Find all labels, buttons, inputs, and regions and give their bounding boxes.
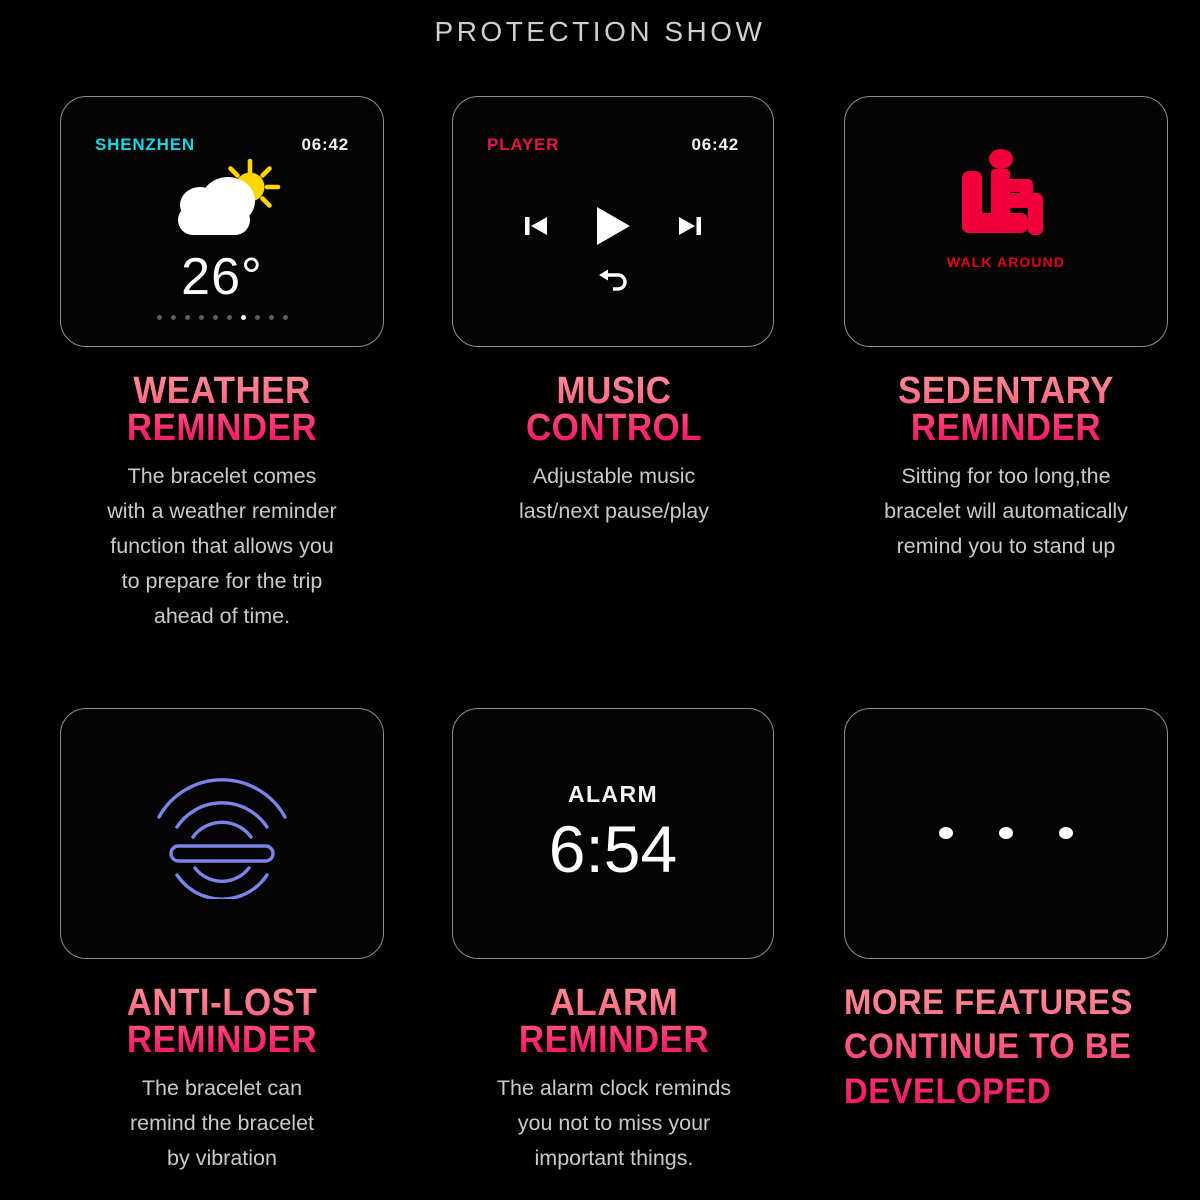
feature-card-weather-reminder: SHENZHEN 06:42: [60, 96, 384, 634]
feature-grid: SHENZHEN 06:42: [60, 96, 1160, 1176]
player-controls: [453, 205, 773, 247]
page-dot: [185, 315, 190, 320]
sun-behind-cloud-icon: [156, 157, 288, 249]
watch-status-bar: SHENZHEN 06:42: [61, 135, 383, 155]
card-title-weather-reminder: WEATHER REMINDER: [73, 373, 371, 447]
page-title: PROTECTION SHOW: [0, 16, 1200, 48]
card-title-anti-lost-reminder: ANTI-LOST REMINDER: [73, 985, 371, 1059]
card-description-weather-reminder: The bracelet comes with a weather remind…: [46, 459, 398, 633]
play-icon[interactable]: [593, 205, 633, 247]
person-sitting-in-chair-icon: [954, 149, 1058, 245]
sedentary-content: WALK AROUND: [845, 149, 1167, 270]
sedentary-label: WALK AROUND: [947, 254, 1065, 270]
page-dots-indicator[interactable]: [61, 315, 383, 320]
card-description-anti-lost-reminder: The bracelet can remind the bracelet by …: [60, 1071, 384, 1175]
player-label: PLAYER: [487, 135, 559, 155]
card-title-more-features: MORE FEATURES CONTINUE TO BE DEVELOPED: [844, 981, 1149, 1115]
page-dot: [269, 315, 274, 320]
vibration-waves-icon: [147, 767, 297, 899]
card-title-alarm-reminder: ALARM REMINDER: [465, 985, 763, 1059]
feature-card-music-control: PLAYER 06:42: [452, 96, 776, 634]
player-time-label: 06:42: [692, 135, 739, 155]
page-dot: [171, 315, 176, 320]
page-dot: [157, 315, 162, 320]
alarm-label: ALARM: [453, 781, 773, 808]
watch-status-bar: PLAYER 06:42: [453, 135, 773, 155]
weather-temperature: 26°: [61, 247, 383, 307]
weather-city-label: SHENZHEN: [95, 135, 195, 155]
feature-card-anti-lost-reminder: ANTI-LOST REMINDER The bracelet can remi…: [60, 634, 384, 1176]
card-title-music-control: MUSIC CONTROL: [465, 373, 763, 447]
feature-card-more-features: MORE FEATURES CONTINUE TO BE DEVELOPED: [844, 634, 1168, 1176]
more-dot: [999, 827, 1013, 839]
next-track-icon[interactable]: [677, 213, 703, 239]
page-dot: [199, 315, 204, 320]
more-dot: [939, 827, 953, 839]
page-dot: [227, 315, 232, 320]
watch-screen-player[interactable]: PLAYER 06:42: [452, 96, 774, 347]
more-dot: [1059, 827, 1073, 839]
page-dot: [283, 315, 288, 320]
watch-screen-alarm[interactable]: ALARM 6:54: [452, 708, 774, 959]
watch-screen-more[interactable]: [844, 708, 1168, 959]
alarm-time: 6:54: [453, 811, 773, 887]
watch-screen-weather[interactable]: SHENZHEN 06:42: [60, 96, 384, 347]
page-dot-active: [241, 315, 246, 320]
page-dot: [213, 315, 218, 320]
watch-screen-sedentary[interactable]: WALK AROUND: [844, 96, 1168, 347]
player-back-row: [453, 269, 773, 295]
feature-card-sedentary-reminder: WALK AROUND SEDENTARY REMINDER Sitting f…: [844, 96, 1168, 634]
card-title-sedentary-reminder: SEDENTARY REMINDER: [857, 373, 1155, 447]
card-description-sedentary-reminder: Sitting for too long,the bracelet will a…: [830, 459, 1182, 563]
card-description-alarm-reminder: The alarm clock reminds you not to miss …: [438, 1071, 790, 1175]
back-arrow-icon[interactable]: [596, 269, 630, 295]
watch-screen-anti-lost[interactable]: [60, 708, 384, 959]
page-dot: [255, 315, 260, 320]
weather-time-label: 06:42: [302, 135, 349, 155]
card-description-music-control: Adjustable music last/next pause/play: [452, 459, 776, 529]
previous-track-icon[interactable]: [523, 213, 549, 239]
three-dots-icon: [845, 709, 1167, 958]
feature-card-alarm-reminder: ALARM 6:54 ALARM REMINDER The alarm cloc…: [452, 634, 776, 1176]
vibration-content: [61, 709, 383, 958]
